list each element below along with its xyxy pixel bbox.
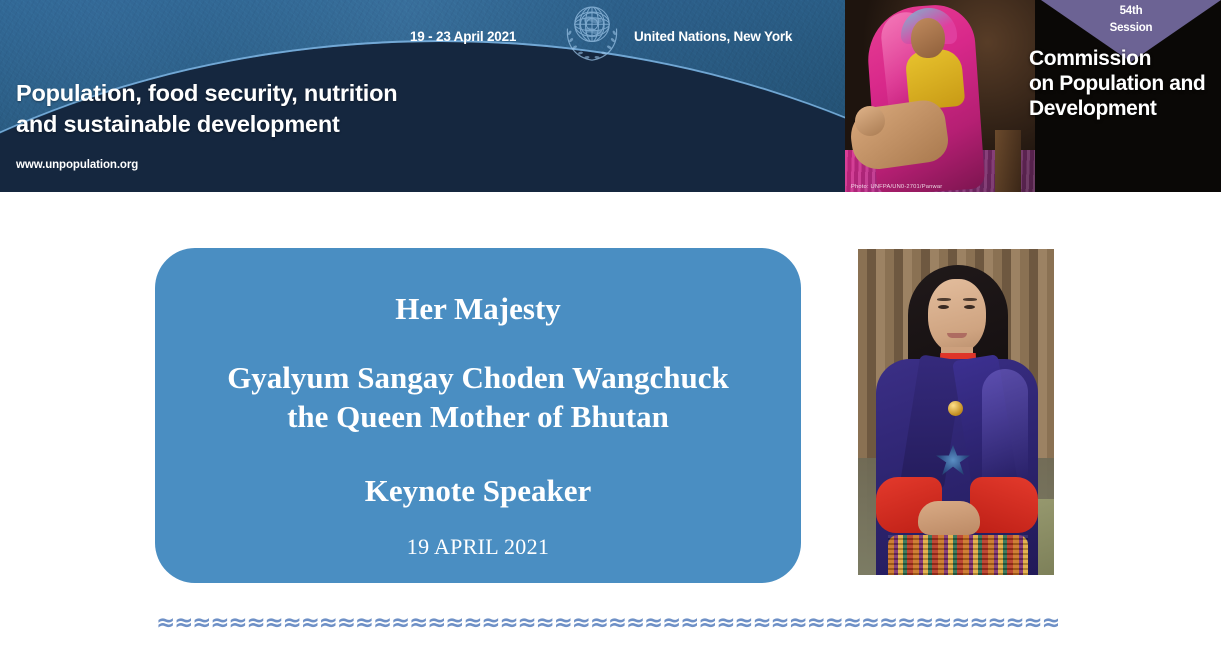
speaker-portrait-photo bbox=[858, 249, 1054, 575]
portrait-hands bbox=[918, 501, 980, 535]
portrait-eye-right bbox=[964, 305, 975, 309]
portrait-sleeve-right bbox=[970, 477, 1038, 533]
speaker-date: 19 APRIL 2021 bbox=[189, 535, 767, 559]
banner-location: United Nations, New York bbox=[634, 29, 792, 44]
photo-wooden-post bbox=[995, 130, 1021, 192]
photo-credit-text: Photo: UNFPA/UN0-2701/Panwar bbox=[851, 183, 942, 189]
speaker-name: Gyalyum Sangay Choden Wangchuck the Quee… bbox=[189, 358, 767, 436]
keynote-speaker-card: Her Majesty Gyalyum Sangay Choden Wangch… bbox=[155, 248, 801, 583]
speaker-role: Keynote Speaker bbox=[189, 474, 767, 508]
speaker-honorific: Her Majesty bbox=[189, 292, 767, 326]
banner-right-panel: Photo: UNFPA/UN0-2701/Panwar 54th Sessio… bbox=[845, 0, 1221, 192]
commission-title: Commission on Population and Development bbox=[1029, 46, 1221, 122]
banner-theme-title: Population, food security, nutrition and… bbox=[16, 78, 397, 140]
slide-content-area: Her Majesty Gyalyum Sangay Choden Wangch… bbox=[0, 192, 1221, 658]
portrait-face bbox=[928, 279, 986, 353]
portrait-eyebrow-left bbox=[937, 298, 951, 301]
portrait-eye-left bbox=[938, 305, 949, 309]
wave-divider: ≈≈≈≈≈≈≈≈≈≈≈≈≈≈≈≈≈≈≈≈≈≈≈≈≈≈≈≈≈≈≈≈≈≈≈≈≈≈≈≈… bbox=[156, 610, 1058, 636]
session-number-label: 54th Session bbox=[1041, 3, 1221, 38]
un-emblem-icon bbox=[556, 0, 628, 66]
portrait-eyebrow-right bbox=[963, 298, 977, 301]
portrait-mouth bbox=[947, 333, 967, 338]
banner-left-panel: 19 - 23 April 2021 bbox=[0, 0, 845, 192]
portrait-gold-brooch bbox=[948, 401, 963, 416]
banner-dates: 19 - 23 April 2021 bbox=[410, 29, 516, 44]
banner-mother-child-photo: Photo: UNFPA/UN0-2701/Panwar bbox=[845, 0, 1035, 192]
banner-website-url[interactable]: www.unpopulation.org bbox=[16, 159, 138, 171]
photo-mother-head bbox=[911, 18, 945, 58]
conference-banner: 19 - 23 April 2021 bbox=[0, 0, 1221, 192]
photo-baby-head bbox=[855, 106, 885, 136]
portrait-kira-weave bbox=[888, 535, 1028, 575]
